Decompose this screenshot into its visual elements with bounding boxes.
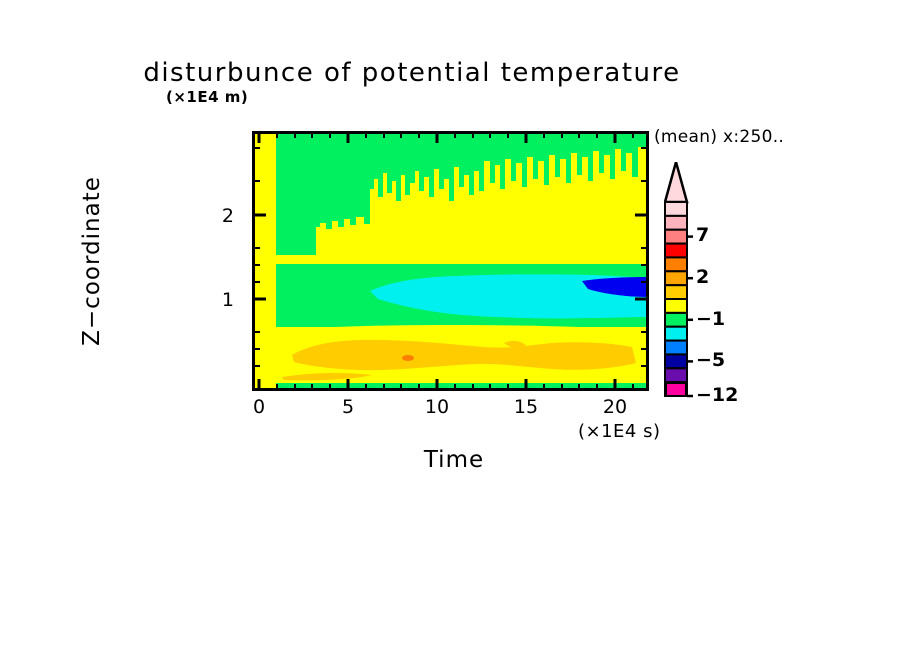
- y-tick-label-2: 2: [204, 205, 234, 227]
- x-minor-ticks: [277, 384, 633, 391]
- page-title: disturbunce of potential temperature: [0, 58, 864, 88]
- x-tick-label-5: 5: [328, 396, 368, 418]
- colorbar-swatch-4: [665, 244, 687, 258]
- colorbar-arrow-tip: [665, 162, 687, 202]
- region-left-yellow-column: [252, 131, 276, 391]
- colorbar-label-7: 7: [696, 224, 709, 246]
- colorbar-label-neg5: −5: [696, 349, 725, 371]
- colorbar-swatch-3: [665, 230, 687, 244]
- region-mid-yellow-strip: [276, 255, 649, 264]
- colorbar-swatch-5: [665, 257, 687, 271]
- colorbar-swatch-12: [665, 354, 687, 368]
- colorbar-swatch-7: [665, 285, 687, 299]
- colorbar-label-2: 2: [696, 266, 709, 288]
- y-axis-title: Z−coordinate: [79, 151, 105, 371]
- x-axis-title: Time: [389, 447, 519, 473]
- colorbar-label-neg12: −12: [696, 384, 738, 406]
- colorbar: 7 2 −1 −5 −12: [664, 162, 784, 398]
- x-minor-ticks-top: [277, 131, 633, 138]
- x-tick-label-0: 0: [239, 396, 279, 418]
- contour-canvas: [252, 131, 649, 391]
- x-tick-label-15: 15: [506, 396, 546, 418]
- colorbar-label-neg1: −1: [696, 308, 725, 330]
- region-orange-spot: [402, 355, 414, 361]
- x-tick-label-10: 10: [417, 396, 457, 418]
- colorbar-swatch-8: [665, 299, 687, 313]
- colorbar-swatch-13: [665, 368, 687, 382]
- y-unit-label: (×1E4 m): [166, 88, 248, 106]
- mean-annotation: (mean) x:250..: [654, 127, 784, 147]
- contour-plot: [252, 131, 649, 391]
- colorbar-swatch-6: [665, 271, 687, 285]
- x-unit-label: (×1E4 s): [578, 421, 661, 442]
- colorbar-swatch-11: [665, 341, 687, 355]
- colorbar-swatch-1: [665, 202, 687, 216]
- y-tick-label-1: 1: [204, 289, 234, 311]
- colorbar-swatch-2: [665, 216, 687, 230]
- x-tick-label-20: 20: [595, 396, 635, 418]
- colorbar-swatch-magenta: [665, 382, 687, 397]
- colorbar-swatch-9: [665, 313, 687, 327]
- colorbar-swatch-10: [665, 327, 687, 341]
